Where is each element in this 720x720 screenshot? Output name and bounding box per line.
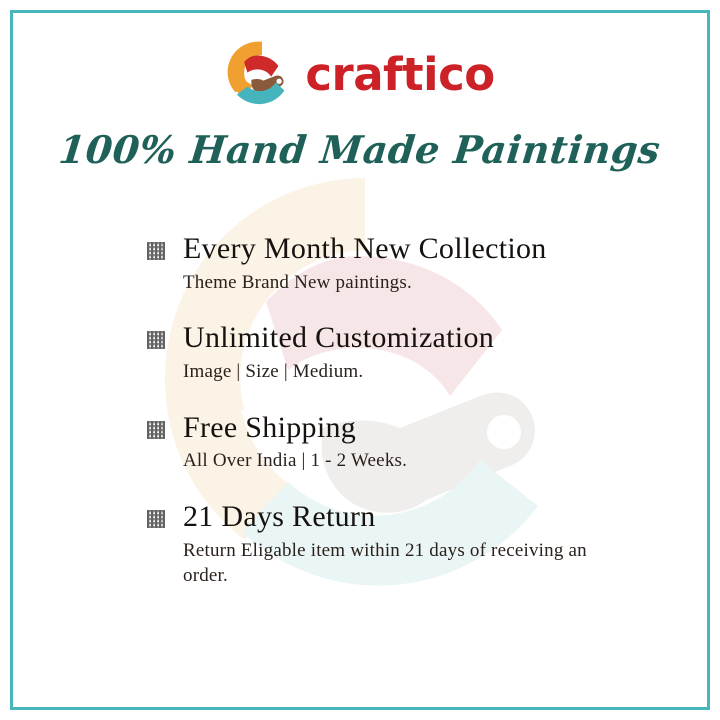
feature-body: Free Shipping All Over India | 1 - 2 Wee…	[183, 411, 616, 474]
feature-subtitle: Image | Size | Medium.	[183, 359, 616, 384]
woven-grid-bullet-icon	[146, 241, 166, 261]
feature-body: Unlimited Customization Image | Size | M…	[183, 321, 616, 384]
feature-body: 21 Days Return Return Eligable item with…	[183, 500, 616, 589]
headline: 100% Hand Made Paintings	[0, 128, 720, 172]
feature-title: Every Month New Collection	[183, 232, 616, 267]
woven-grid-bullet-icon	[146, 509, 166, 529]
feature-item: 21 Days Return Return Eligable item with…	[146, 500, 616, 589]
feature-title: 21 Days Return	[183, 500, 616, 535]
feature-item: Unlimited Customization Image | Size | M…	[146, 321, 616, 384]
feature-title: Unlimited Customization	[183, 321, 616, 356]
promo-poster: craftico 100% Hand Made Paintings	[0, 0, 720, 720]
brand-logo-lockup: craftico	[0, 34, 720, 110]
feature-subtitle: Theme Brand New paintings.	[183, 270, 616, 295]
feature-subtitle: All Over India | 1 - 2 Weeks.	[183, 448, 616, 473]
woven-grid-bullet-icon	[146, 420, 166, 440]
feature-list: Every Month New Collection Theme Brand N…	[146, 232, 616, 588]
feature-item: Free Shipping All Over India | 1 - 2 Wee…	[146, 411, 616, 474]
feature-item: Every Month New Collection Theme Brand N…	[146, 232, 616, 295]
brand-wordmark: craftico	[305, 52, 494, 97]
feature-body: Every Month New Collection Theme Brand N…	[183, 232, 616, 295]
headline-text: 100% Hand Made Paintings	[57, 128, 663, 172]
feature-subtitle: Return Eligable item within 21 days of r…	[183, 538, 616, 589]
craftico-c-paintbrush-icon	[225, 39, 291, 105]
feature-title: Free Shipping	[183, 411, 616, 446]
woven-grid-bullet-icon	[146, 330, 166, 350]
